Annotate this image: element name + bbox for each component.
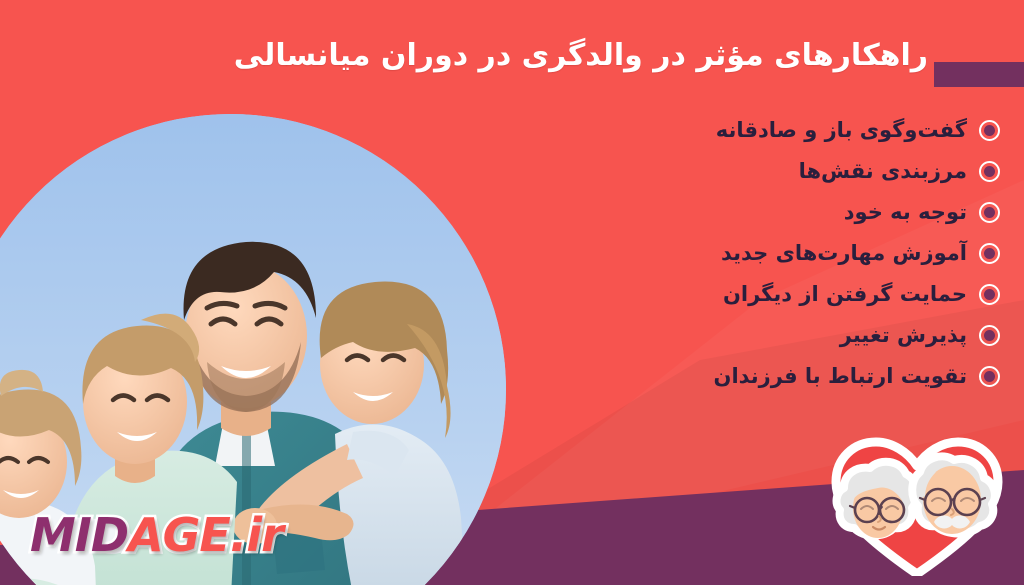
- list-item-label: مرزبندی نقش‌ها: [799, 161, 967, 182]
- list-item[interactable]: پذیرش تغییر: [440, 315, 1000, 356]
- poster-canvas: راهکارهای مؤثر در والدگری در دوران میانس…: [0, 0, 1024, 585]
- site-logo[interactable]: MIDAGE.ir: [30, 512, 283, 558]
- purple-accent-block: [934, 62, 1024, 87]
- bullet-dot-icon: [984, 207, 995, 218]
- list-item[interactable]: توجه به خود: [440, 192, 1000, 233]
- logo-text-age: AGE.ir: [128, 512, 283, 558]
- bullet-ring-icon: [979, 325, 1000, 346]
- strategy-list: گفت‌وگوی باز و صادقانه مرزبندی نقش‌ها تو…: [440, 110, 1000, 397]
- bullet-ring-icon: [979, 366, 1000, 387]
- list-item-label: آموزش مهارت‌های جدید: [721, 243, 967, 264]
- bullet-ring-icon: [979, 161, 1000, 182]
- bullet-dot-icon: [984, 371, 995, 382]
- list-item-label: حمایت گرفتن از دیگران: [723, 284, 967, 305]
- bullet-dot-icon: [984, 289, 995, 300]
- bullet-dot-icon: [984, 248, 995, 259]
- bullet-ring-icon: [979, 243, 1000, 264]
- list-item[interactable]: آموزش مهارت‌های جدید: [440, 233, 1000, 274]
- bullet-ring-icon: [979, 202, 1000, 223]
- bullet-ring-icon: [979, 284, 1000, 305]
- bullet-dot-icon: [984, 330, 995, 341]
- logo-text-mid: MID: [30, 512, 128, 558]
- list-item[interactable]: گفت‌وگوی باز و صادقانه: [440, 110, 1000, 151]
- list-item-label: توجه به خود: [844, 202, 967, 223]
- list-item-label: پذیرش تغییر: [840, 325, 967, 346]
- list-item[interactable]: حمایت گرفتن از دیگران: [440, 274, 1000, 315]
- list-item-label: تقویت ارتباط با فرزندان: [714, 366, 967, 387]
- page-title: راهکارهای مؤثر در والدگری در دوران میانس…: [228, 34, 928, 78]
- bullet-ring-icon: [979, 120, 1000, 141]
- bullet-dot-icon: [984, 125, 995, 136]
- list-item[interactable]: مرزبندی نقش‌ها: [440, 151, 1000, 192]
- heart-elderly-couple-icon: [826, 424, 1008, 576]
- list-item-label: گفت‌وگوی باز و صادقانه: [716, 120, 967, 141]
- bullet-dot-icon: [984, 166, 995, 177]
- list-item[interactable]: تقویت ارتباط با فرزندان: [440, 356, 1000, 397]
